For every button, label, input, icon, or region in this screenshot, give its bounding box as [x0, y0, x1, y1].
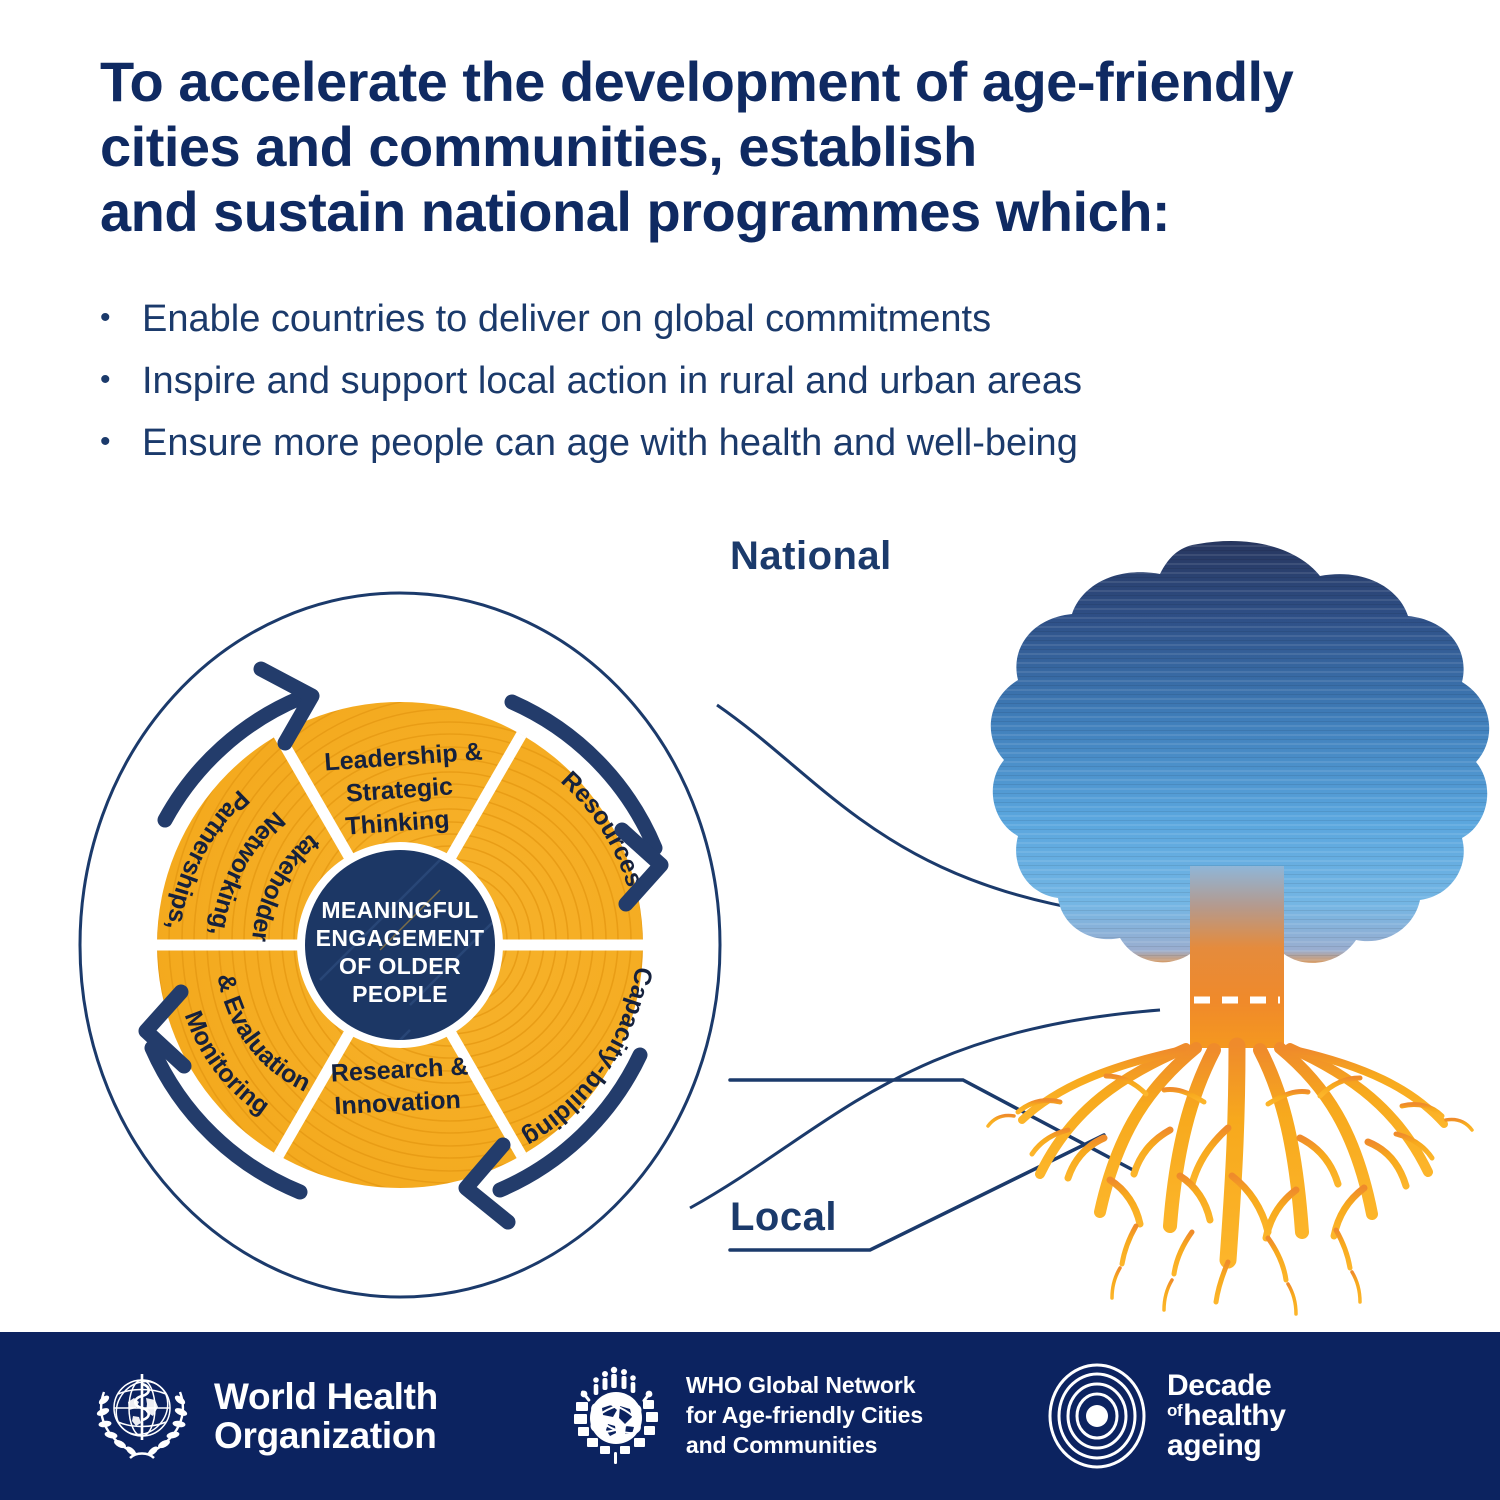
tree-roots	[988, 1046, 1472, 1314]
label-national: National	[730, 534, 892, 579]
global-network-globe-icon	[564, 1364, 668, 1468]
page-title: To accelerate the development of age-fri…	[100, 50, 1440, 245]
title-line-2: cities and communities, establish	[100, 115, 1440, 180]
who-wordmark: World Health Organization	[214, 1377, 438, 1455]
hub-line-1: MEANINGFUL	[321, 897, 478, 923]
network-line-3: and Communities	[686, 1431, 923, 1461]
who-emblem-icon	[88, 1362, 196, 1470]
who-line-1: World Health	[214, 1377, 438, 1416]
list-item: • Inspire and support local action in ru…	[100, 362, 1350, 400]
hub-line-4: PEOPLE	[352, 981, 448, 1007]
bullet-text: Inspire and support local action in rura…	[142, 362, 1350, 400]
label-local: Local	[730, 1195, 837, 1240]
infographic-page: To accelerate the development of age-fri…	[0, 0, 1500, 1500]
list-item: • Enable countries to deliver on global …	[100, 300, 1350, 338]
logo-who: World Health Organization	[88, 1362, 438, 1470]
footer-bar: World Health Organization	[0, 1332, 1500, 1500]
network-line-1: WHO Global Network	[686, 1371, 923, 1401]
decade-of: of	[1167, 1401, 1182, 1420]
decade-rings-icon	[1045, 1361, 1149, 1471]
decade-line-1: Decade	[1167, 1371, 1285, 1401]
bullet-marker-icon: •	[100, 424, 142, 460]
tree-trunk	[1190, 866, 1284, 1048]
bullet-marker-icon: •	[100, 362, 142, 398]
title-line-3: and sustain national programmes which:	[100, 180, 1440, 245]
logo-global-network: WHO Global Network for Age-friendly Citi…	[564, 1364, 923, 1468]
decade-line-2-row: ofhealthy	[1167, 1401, 1285, 1431]
hub-line-3: OF OLDER	[339, 953, 461, 979]
list-item: • Ensure more people can age with health…	[100, 424, 1350, 462]
bullet-text: Enable countries to deliver on global co…	[142, 300, 1350, 338]
network-line-2: for Age-friendly Cities	[686, 1401, 923, 1431]
tree-illustration	[988, 541, 1489, 1314]
logo-decade: Decade ofhealthy ageing	[1045, 1361, 1285, 1471]
bullet-marker-icon: •	[100, 300, 142, 336]
title-line-1: To accelerate the development of age-fri…	[100, 50, 1440, 115]
bullet-list: • Enable countries to deliver on global …	[100, 300, 1350, 486]
hub-line-2: ENGAGEMENT	[316, 925, 485, 951]
bullet-text: Ensure more people can age with health a…	[142, 424, 1350, 462]
decade-wordmark: Decade ofhealthy ageing	[1167, 1371, 1285, 1461]
decade-line-2: healthy	[1183, 1399, 1285, 1432]
global-network-wordmark: WHO Global Network for Age-friendly Citi…	[686, 1371, 923, 1461]
who-line-2: Organization	[214, 1416, 438, 1455]
decade-line-3: ageing	[1167, 1431, 1285, 1461]
